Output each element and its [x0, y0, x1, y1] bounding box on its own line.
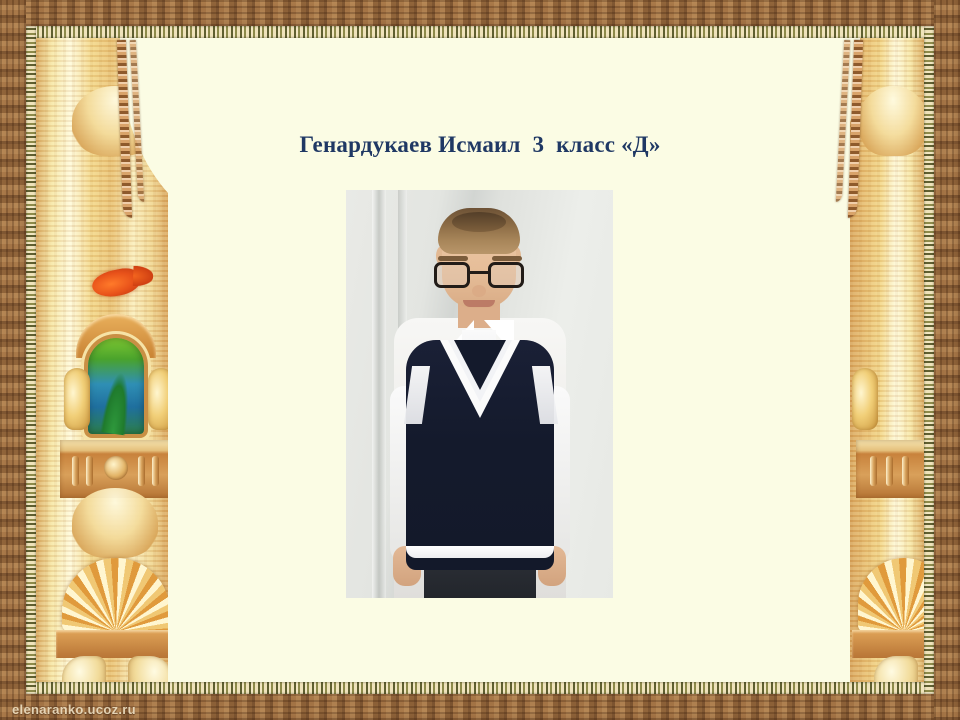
scroll-band-left — [26, 26, 36, 694]
crest-ornament-icon — [72, 488, 158, 558]
glasses-bridge — [470, 271, 488, 274]
scroll-band-top — [26, 26, 934, 38]
hair — [438, 208, 520, 254]
vest-hem-trim — [406, 546, 554, 558]
seahorse-icon — [128, 656, 168, 682]
mouth — [463, 300, 495, 307]
student-photo — [346, 190, 613, 598]
watermark: elenaranko.ucoz.ru — [12, 702, 136, 717]
medallion-icon — [104, 456, 128, 480]
balustrade-post — [902, 456, 909, 486]
balustrade-post — [870, 456, 877, 486]
frame-band-top — [0, 0, 960, 26]
scroll-band-right — [924, 26, 934, 694]
vase-ornament-right-column — [852, 368, 878, 430]
eyebrow-left — [438, 256, 468, 261]
vest-vneck-core — [454, 340, 506, 390]
balustrade-post — [72, 456, 79, 486]
vase-ornament-right — [148, 368, 168, 430]
glasses-lens-left — [434, 262, 470, 288]
frame-band-left — [0, 0, 26, 720]
glasses-lens-right — [488, 262, 524, 288]
balustrade-post — [138, 456, 145, 486]
balustrade-ornament — [856, 440, 924, 498]
frame-band-bottom — [0, 694, 960, 720]
eyebrow-right — [492, 256, 522, 261]
nose — [472, 285, 486, 297]
balustrade-post — [152, 456, 159, 486]
landscape-window-icon — [88, 338, 144, 434]
page-title: Генардукаев Исмаил 3 класс «Д» — [0, 132, 960, 158]
vase-ornament-left — [64, 368, 90, 430]
balustrade-post — [886, 456, 893, 486]
balustrade-post — [86, 456, 93, 486]
student-figure — [346, 190, 613, 598]
plinth-ornament — [852, 630, 924, 658]
presentation-slide: Генардукаев Исмаил 3 класс «Д» — [0, 0, 960, 720]
palm-frond-icon — [100, 370, 134, 435]
scroll-band-bottom — [26, 682, 934, 694]
frame-band-right — [934, 0, 960, 720]
plinth-ornament — [56, 630, 168, 658]
